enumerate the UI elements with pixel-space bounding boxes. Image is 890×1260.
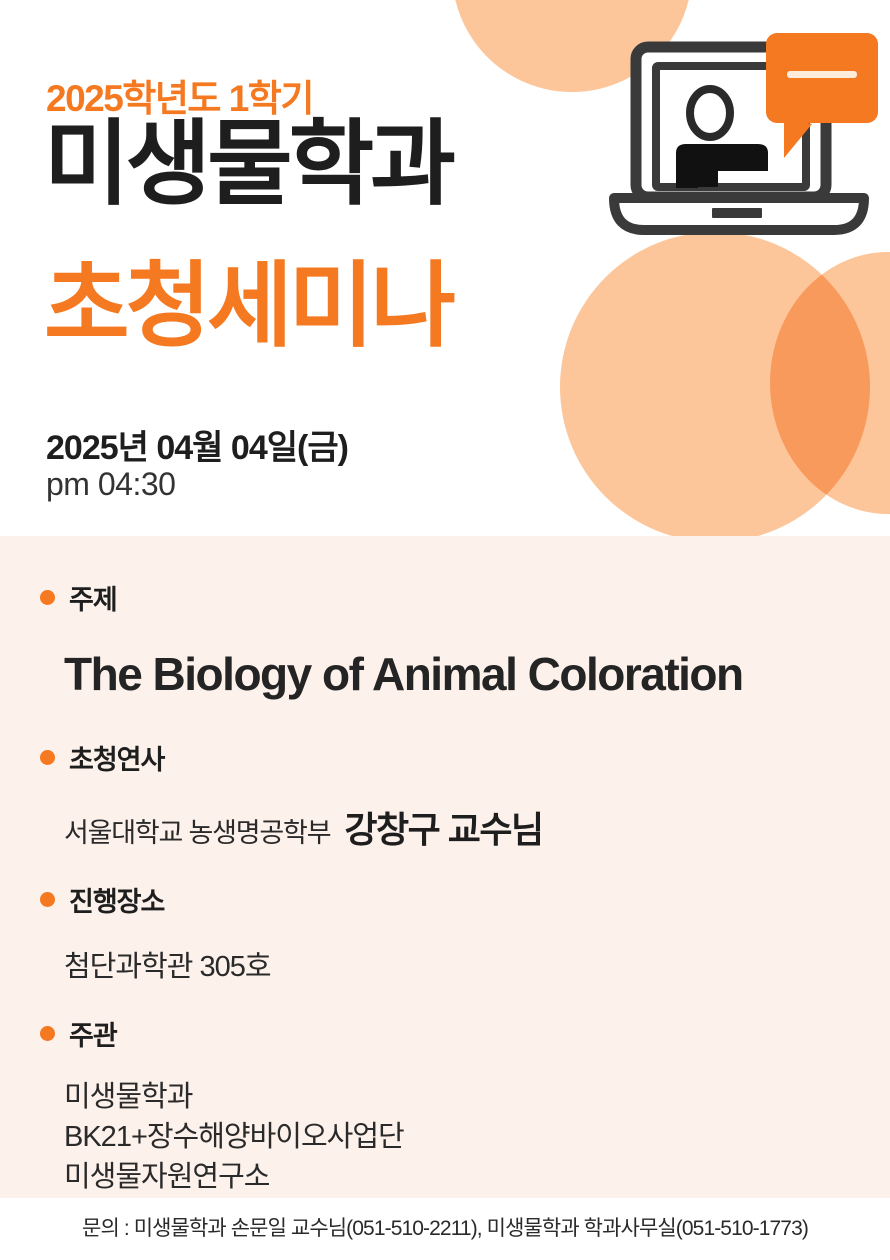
section-speaker-body: 서울대학교 농생명공학부 강창구 교수님	[0, 801, 890, 853]
section-organizers-body: 미생물학과 BK21+장수해양바이오사업단 미생물자원연구소	[0, 1077, 890, 1197]
event-time: pm 04:30	[46, 466, 175, 503]
section-topic: 주제 The Biology of Animal Coloration	[0, 578, 890, 701]
speaker-name: 강창구 교수님	[344, 801, 542, 853]
section-topic-body: The Biology of Animal Coloration	[0, 647, 890, 701]
section-venue: 진행장소 첨단과학관 305호	[0, 880, 890, 985]
bullet-dot-icon	[40, 1026, 55, 1041]
section-organizers-heading: 주관	[0, 1014, 890, 1053]
poster-header: 2025학년도 1학기 미생물학과 초청세미나 2025년 04월 04일(금)…	[0, 0, 890, 536]
speaker-line: 서울대학교 농생명공학부 강창구 교수님	[64, 801, 890, 853]
poster-title-sub: 초청세미나	[44, 260, 452, 353]
section-speaker: 초청연사 서울대학교 농생명공학부 강창구 교수님	[0, 738, 890, 853]
section-venue-label: 진행장소	[69, 880, 164, 919]
section-organizers: 주관 미생물학과 BK21+장수해양바이오사업단 미생물자원연구소	[0, 1014, 890, 1197]
poster-title-main: 미생물학과	[44, 118, 452, 211]
bullet-dot-icon	[40, 750, 55, 765]
section-venue-body: 첨단과학관 305호	[0, 943, 890, 985]
seminar-poster: 2025학년도 1학기 미생물학과 초청세미나 2025년 04월 04일(금)…	[0, 0, 890, 1260]
section-organizers-label: 주관	[69, 1014, 117, 1053]
event-date: 2025년 04월 04일(금)	[46, 420, 348, 469]
poster-details-panel: 주제 The Biology of Animal Coloration 초청연사…	[0, 536, 890, 1198]
seminar-topic-title: The Biology of Animal Coloration	[64, 647, 890, 701]
laptop-illustration-icon	[598, 30, 880, 256]
section-topic-label: 주제	[69, 578, 117, 617]
bullet-dot-icon	[40, 590, 55, 605]
organizer-item: 미생물학과	[64, 1077, 890, 1117]
bullet-dot-icon	[40, 892, 55, 907]
section-speaker-heading: 초청연사	[0, 738, 890, 777]
section-topic-heading: 주제	[0, 578, 890, 617]
organizer-item: BK21+장수해양바이오사업단	[64, 1117, 890, 1157]
section-speaker-label: 초청연사	[69, 738, 164, 777]
organizer-item: 미생물자원연구소	[64, 1157, 890, 1197]
speaker-affiliation: 서울대학교 농생명공학부	[64, 811, 330, 850]
venue-location: 첨단과학관 305호	[64, 943, 890, 985]
section-venue-heading: 진행장소	[0, 880, 890, 919]
poster-footer: 문의 : 미생물학과 손문일 교수님(051-510-2211), 미생물학과 …	[0, 1198, 890, 1260]
contact-info: 문의 : 미생물학과 손문일 교수님(051-510-2211), 미생물학과 …	[0, 1212, 890, 1242]
